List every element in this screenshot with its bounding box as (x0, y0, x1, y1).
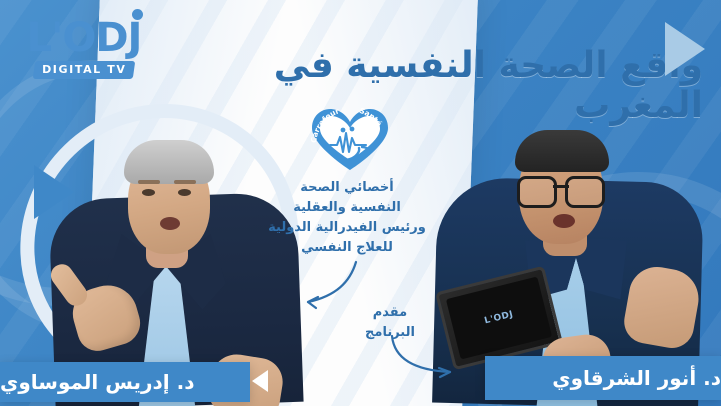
left-guest-hair (124, 140, 214, 184)
channel-logo[interactable]: L'ODJ DIGITAL TV (24, 18, 144, 79)
credentials-line-3: ورئيس الفيدرالية الدولية (256, 218, 438, 238)
page-title: واقع الصحة النفسية في المغرب (143, 46, 703, 125)
glasses-lens-right (565, 176, 605, 208)
logo-wordmark: L'ODJ (27, 18, 142, 58)
eyeglasses-icon (517, 176, 605, 202)
logo-dot-icon (132, 9, 143, 20)
tablet-logo-text: L'ODJ (483, 310, 514, 327)
name-plate-left-text: د. إدريس الموساوي (0, 370, 194, 394)
name-plate-left: د. إدريس الموساوي (0, 362, 250, 402)
name-plate-right: د. أنور الشرقاوي (485, 356, 721, 400)
left-guest-mouth (160, 217, 180, 230)
tablet-screen: L'ODJ (446, 277, 552, 360)
name-plate-right-text: د. أنور الشرقاوي (552, 366, 721, 390)
left-guest-brow-a (138, 180, 160, 184)
credentials-line-4: للعلاج النفسي (256, 238, 438, 258)
right-guest-mouth (553, 214, 575, 228)
left-guest-eye-a (142, 189, 155, 196)
left-guest-eye-b (178, 189, 191, 196)
logo-tagline-badge: DIGITAL TV (33, 61, 136, 79)
credentials-line-1: أخصائي الصحة (256, 178, 438, 198)
guest-credentials: أخصائي الصحة النفسية والعقلية ورئيس الفي… (256, 178, 438, 259)
name-plate-left-pointer-icon (252, 370, 268, 392)
logo-wordmark-text: L'ODJ (27, 15, 142, 61)
right-guest-hair (515, 130, 609, 172)
credentials-line-2: النفسية والعقلية (256, 198, 438, 218)
logo-tagline-text: DIGITAL TV (42, 63, 126, 76)
play-triangle-left-icon[interactable] (34, 165, 74, 219)
play-triangle-right-icon[interactable] (665, 22, 705, 76)
video-thumbnail-canvas: L'ODJ L'ODJ DIGITAL TV واقع الصحة النفسي… (0, 0, 721, 406)
glasses-bridge (553, 185, 569, 188)
arrow-to-presenter-icon (386, 334, 458, 380)
left-guest-brow-b (174, 180, 196, 184)
presenter-caption-line-1: مقدم (350, 303, 430, 323)
glasses-lens-left (517, 176, 557, 208)
